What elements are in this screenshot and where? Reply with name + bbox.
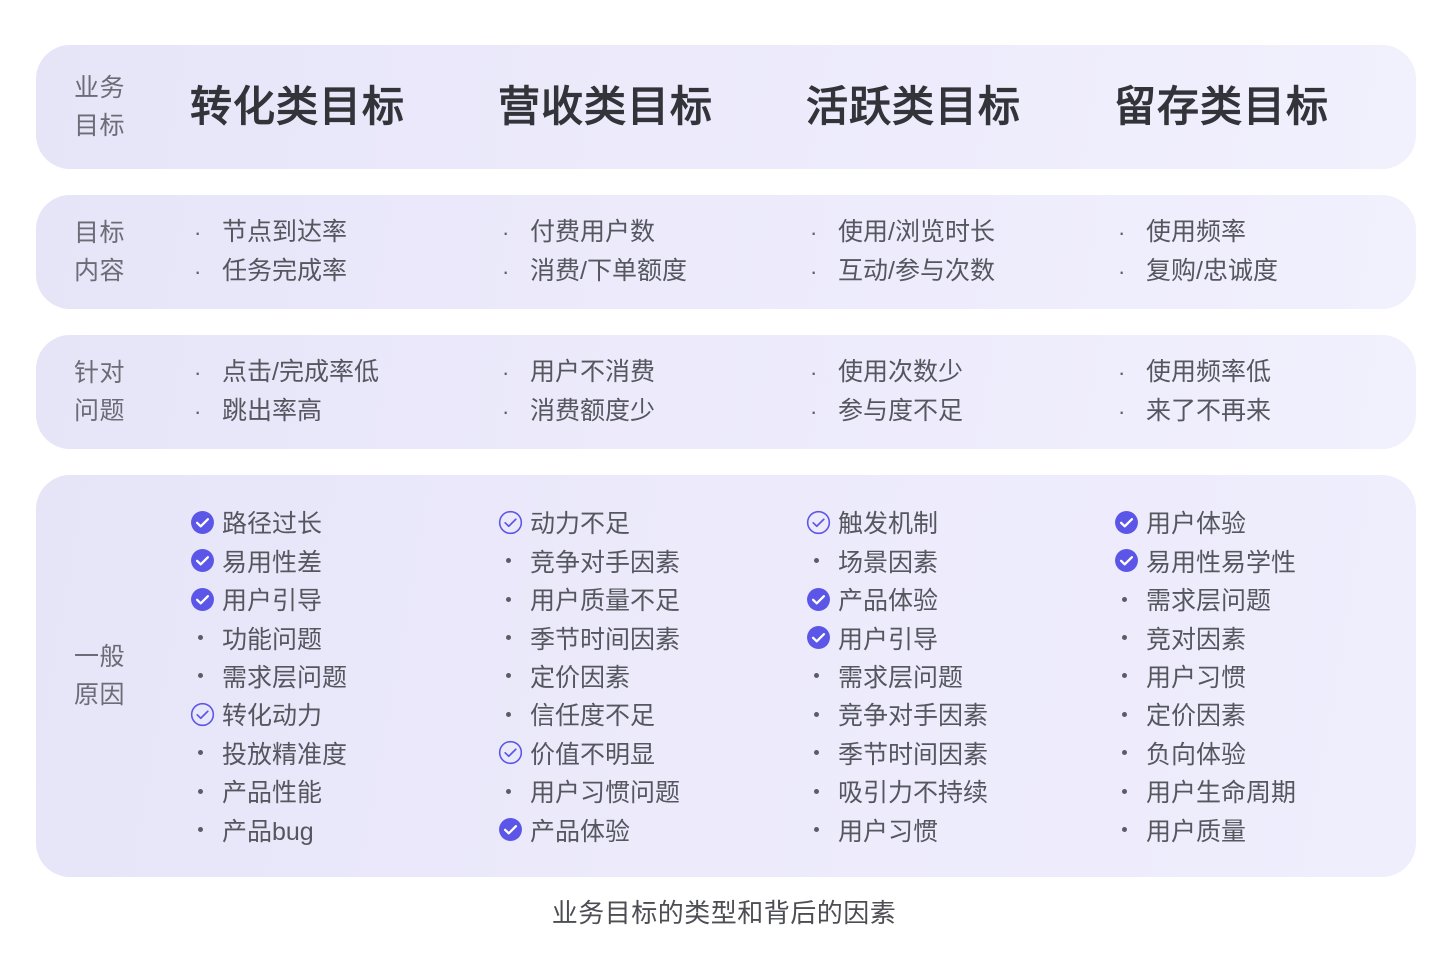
list-item: ·使用/浏览时长 <box>806 213 1108 252</box>
bullet-dot-icon: · <box>806 214 838 252</box>
cell-list: ·用户不消费 ·消费额度少 <box>492 353 800 431</box>
row-label-general-causes: 一般 原因 <box>36 475 184 877</box>
list-item: ·互动/参与次数 <box>806 252 1108 291</box>
cause-item: 用户体验 <box>1114 503 1416 541</box>
bullet-dot-icon <box>498 542 530 580</box>
cause-item: 用户习惯问题 <box>498 772 800 810</box>
list-item-label: 复购/忠诚度 <box>1146 252 1278 290</box>
list-item-label: 互动/参与次数 <box>838 252 995 290</box>
column-header-retention: 留存类目标 <box>1108 86 1416 128</box>
cause-list-retention: 用户体验易用性易学性需求层问题竞对因素用户习惯定价因素负向体验用户生命周期用户质… <box>1108 503 1416 849</box>
row-label-goal-content: 目标 内容 <box>36 195 184 309</box>
cause-item: 投放精准度 <box>190 734 492 772</box>
cause-item-label: 用户习惯问题 <box>530 773 680 809</box>
list-item-label: 跳出率高 <box>222 392 322 430</box>
cause-item: 用户质量 <box>1114 810 1416 848</box>
cause-item-label: 吸引力不持续 <box>838 773 988 809</box>
check-filled-icon <box>806 618 838 656</box>
cause-item-label: 用户质量不足 <box>530 581 680 617</box>
list-item: ·任务完成率 <box>190 252 492 291</box>
cause-item: 产品体验 <box>498 810 800 848</box>
check-outline-icon <box>806 503 838 541</box>
list-item-label: 节点到达率 <box>222 213 347 251</box>
row-band-goal-content: 目标 内容 ·节点到达率 ·任务完成率 ·付费用户数 ·消费/下单额度 ·使用/… <box>36 195 1416 309</box>
cause-item-label: 竞争对手因素 <box>838 696 988 732</box>
bullet-dot-icon <box>1114 657 1146 695</box>
bullet-dot-icon <box>498 580 530 618</box>
bullet-dot-icon: · <box>190 253 222 291</box>
list-item: ·节点到达率 <box>190 213 492 252</box>
cause-item-label: 信任度不足 <box>530 696 655 732</box>
cause-item-label: 定价因素 <box>530 658 630 694</box>
cause-item-label: 季节时间因素 <box>530 620 680 656</box>
cause-item: 用户引导 <box>806 618 1108 656</box>
bullet-dot-icon <box>806 657 838 695</box>
bullet-dot-icon: · <box>190 354 222 392</box>
list-item: ·使用次数少 <box>806 353 1108 392</box>
cell-list: ·使用/浏览时长 ·互动/参与次数 <box>800 213 1108 291</box>
cause-item: 动力不足 <box>498 503 800 541</box>
cause-item-label: 功能问题 <box>222 620 322 656</box>
bullet-dot-icon: · <box>806 393 838 431</box>
list-item: ·用户不消费 <box>498 353 800 392</box>
bullet-dot-icon: · <box>1114 214 1146 252</box>
cell-list: ·节点到达率 ·任务完成率 <box>184 213 492 291</box>
list-item-label: 参与度不足 <box>838 392 963 430</box>
check-filled-icon <box>190 542 222 580</box>
header-columns: 转化类目标 营收类目标 活跃类目标 留存类目标 <box>184 45 1416 169</box>
bullet-dot-icon <box>1114 810 1146 848</box>
cause-item: 负向体验 <box>1114 734 1416 772</box>
cause-item: 易用性差 <box>190 542 492 580</box>
bullet-dot-icon: · <box>498 214 530 252</box>
bullet-dot-icon <box>806 695 838 733</box>
bullet-dot-icon <box>806 734 838 772</box>
cause-item-label: 用户质量 <box>1146 812 1246 848</box>
cause-item-label: 产品体验 <box>530 812 630 848</box>
cause-item: 路径过长 <box>190 503 492 541</box>
check-filled-icon <box>190 580 222 618</box>
bullet-dot-icon: · <box>1114 253 1146 291</box>
header-band: 业务 目标 转化类目标 营收类目标 活跃类目标 留存类目标 <box>36 45 1416 169</box>
cause-item-label: 易用性易学性 <box>1146 543 1296 579</box>
cause-item-label: 易用性差 <box>222 543 322 579</box>
cause-item-label: 触发机制 <box>838 504 938 540</box>
row-label-line-1: 针对 <box>74 354 184 392</box>
check-filled-icon <box>190 503 222 541</box>
list-item: ·消费额度少 <box>498 392 800 431</box>
cause-item-label: 场景因素 <box>838 543 938 579</box>
cell-list: ·使用次数少 ·参与度不足 <box>800 353 1108 431</box>
bullet-dot-icon <box>806 810 838 848</box>
list-item: ·使用频率 <box>1114 213 1416 252</box>
bullet-dot-icon <box>498 657 530 695</box>
list-item: ·点击/完成率低 <box>190 353 492 392</box>
cause-item: 功能问题 <box>190 618 492 656</box>
bullet-dot-icon: · <box>498 253 530 291</box>
list-item-label: 付费用户数 <box>530 213 655 251</box>
bullet-dot-icon <box>498 772 530 810</box>
bullet-dot-icon <box>1114 580 1146 618</box>
cause-item-label: 需求层问题 <box>222 658 347 694</box>
cause-item: 用户质量不足 <box>498 580 800 618</box>
header-row-label-line-1: 业务 <box>74 69 184 107</box>
row-label-line-2: 原因 <box>74 676 184 714</box>
bullet-dot-icon <box>190 618 222 656</box>
cause-item: 用户生命周期 <box>1114 772 1416 810</box>
list-item: ·消费/下单额度 <box>498 252 800 291</box>
cause-item: 需求层问题 <box>190 657 492 695</box>
cause-item: 竞争对手因素 <box>498 542 800 580</box>
cause-item-label: 竞争对手因素 <box>530 543 680 579</box>
cause-item-label: 投放精准度 <box>222 735 347 771</box>
row-label-line-1: 一般 <box>74 638 184 676</box>
list-item-label: 使用/浏览时长 <box>838 213 995 251</box>
list-item-label: 使用次数少 <box>838 353 963 391</box>
cause-item: 价值不明显 <box>498 734 800 772</box>
cause-item-label: 需求层问题 <box>1146 581 1271 617</box>
list-item-label: 用户不消费 <box>530 353 655 391</box>
cause-list-conversion: 路径过长易用性差用户引导功能问题需求层问题转化动力投放精准度产品性能产品bug <box>184 503 492 849</box>
cause-item: 触发机制 <box>806 503 1108 541</box>
figure-caption: 业务目标的类型和背后的因素 <box>0 893 1448 930</box>
bullet-dot-icon <box>806 542 838 580</box>
check-filled-icon <box>498 810 530 848</box>
cause-item-label: 需求层问题 <box>838 658 963 694</box>
bullet-dot-icon <box>1114 695 1146 733</box>
cause-item: 产品体验 <box>806 580 1108 618</box>
list-item: ·跳出率高 <box>190 392 492 431</box>
cause-list-revenue: 动力不足竞争对手因素用户质量不足季节时间因素定价因素信任度不足价值不明显用户习惯… <box>492 503 800 849</box>
row-band-general-causes: 一般 原因 路径过长易用性差用户引导功能问题需求层问题转化动力投放精准度产品性能… <box>36 475 1416 877</box>
list-item: ·使用频率低 <box>1114 353 1416 392</box>
cause-item-label: 产品体验 <box>838 581 938 617</box>
list-item-label: 点击/完成率低 <box>222 353 379 391</box>
cause-item-label: 转化动力 <box>222 696 322 732</box>
cause-item: 信任度不足 <box>498 695 800 733</box>
column-header-conversion: 转化类目标 <box>184 86 492 128</box>
cause-item: 季节时间因素 <box>806 734 1108 772</box>
cause-item: 用户习惯 <box>1114 657 1416 695</box>
bullet-dot-icon <box>190 772 222 810</box>
bullet-dot-icon <box>498 695 530 733</box>
cell-list: ·使用频率 ·复购/忠诚度 <box>1108 213 1416 291</box>
cause-item: 产品性能 <box>190 772 492 810</box>
list-item: ·复购/忠诚度 <box>1114 252 1416 291</box>
cause-item: 季节时间因素 <box>498 618 800 656</box>
bullet-dot-icon <box>1114 734 1146 772</box>
list-item-label: 使用频率低 <box>1146 353 1271 391</box>
bullet-dot-icon <box>498 618 530 656</box>
cause-item-label: 用户引导 <box>222 581 322 617</box>
cause-item-label: 用户体验 <box>1146 504 1246 540</box>
cell-list: ·付费用户数 ·消费/下单额度 <box>492 213 800 291</box>
list-item-label: 来了不再来 <box>1146 392 1271 430</box>
bullet-dot-icon <box>190 810 222 848</box>
header-row-label: 业务 目标 <box>36 45 184 169</box>
check-filled-icon <box>1114 503 1146 541</box>
list-item-label: 使用频率 <box>1146 213 1246 251</box>
bullet-dot-icon: · <box>498 393 530 431</box>
cause-list-activity: 触发机制场景因素产品体验用户引导需求层问题竞争对手因素季节时间因素吸引力不持续用… <box>800 503 1108 849</box>
cause-item: 竞争对手因素 <box>806 695 1108 733</box>
check-outline-icon <box>498 734 530 772</box>
column-header-revenue: 营收类目标 <box>492 86 800 128</box>
bullet-dot-icon <box>190 657 222 695</box>
cause-item-label: 用户习惯 <box>838 812 938 848</box>
row-label-target-problem: 针对 问题 <box>36 335 184 449</box>
list-item-label: 消费额度少 <box>530 392 655 430</box>
cause-item-label: 竞对因素 <box>1146 620 1246 656</box>
cell-list: ·点击/完成率低 ·跳出率高 <box>184 353 492 431</box>
cause-item: 吸引力不持续 <box>806 772 1108 810</box>
bullet-dot-icon: · <box>1114 393 1146 431</box>
cause-item: 需求层问题 <box>1114 580 1416 618</box>
cause-item-label: 路径过长 <box>222 504 322 540</box>
cause-item-label: 产品性能 <box>222 773 322 809</box>
row-columns-goal-content: ·节点到达率 ·任务完成率 ·付费用户数 ·消费/下单额度 ·使用/浏览时长 ·… <box>184 195 1416 309</box>
cause-item: 用户引导 <box>190 580 492 618</box>
cause-item-label: 产品bug <box>222 812 314 848</box>
cause-item-label: 定价因素 <box>1146 696 1246 732</box>
cause-item: 转化动力 <box>190 695 492 733</box>
row-columns-target-problem: ·点击/完成率低 ·跳出率高 ·用户不消费 ·消费额度少 ·使用次数少 ·参与度… <box>184 335 1416 449</box>
cause-item-label: 价值不明显 <box>530 735 655 771</box>
cause-item: 用户习惯 <box>806 810 1108 848</box>
bullet-dot-icon: · <box>806 253 838 291</box>
cause-item: 定价因素 <box>1114 695 1416 733</box>
cause-item-label: 季节时间因素 <box>838 735 988 771</box>
row-columns-general-causes: 路径过长易用性差用户引导功能问题需求层问题转化动力投放精准度产品性能产品bug … <box>184 475 1416 877</box>
bullet-dot-icon: · <box>1114 354 1146 392</box>
cause-item-label: 用户习惯 <box>1146 658 1246 694</box>
bullet-dot-icon: · <box>190 393 222 431</box>
list-item: ·付费用户数 <box>498 213 800 252</box>
row-band-target-problem: 针对 问题 ·点击/完成率低 ·跳出率高 ·用户不消费 ·消费额度少 ·使用次数… <box>36 335 1416 449</box>
cause-item: 需求层问题 <box>806 657 1108 695</box>
cause-item-label: 动力不足 <box>530 504 630 540</box>
cause-item: 竞对因素 <box>1114 618 1416 656</box>
bullet-dot-icon <box>806 772 838 810</box>
check-filled-icon <box>1114 542 1146 580</box>
check-filled-icon <box>806 580 838 618</box>
row-label-line-1: 目标 <box>74 214 184 252</box>
row-label-line-2: 内容 <box>74 252 184 290</box>
header-row-label-line-2: 目标 <box>74 107 184 145</box>
bullet-dot-icon: · <box>806 354 838 392</box>
list-item-label: 任务完成率 <box>222 252 347 290</box>
cause-item: 产品bug <box>190 810 492 848</box>
cause-item-label: 负向体验 <box>1146 735 1246 771</box>
list-item-label: 消费/下单额度 <box>530 252 687 290</box>
cell-list: ·使用频率低 ·来了不再来 <box>1108 353 1416 431</box>
cause-item-label: 用户生命周期 <box>1146 773 1296 809</box>
check-outline-icon <box>498 503 530 541</box>
cause-item-label: 用户引导 <box>838 620 938 656</box>
cause-item: 易用性易学性 <box>1114 542 1416 580</box>
row-label-line-2: 问题 <box>74 392 184 430</box>
bullet-dot-icon: · <box>498 354 530 392</box>
infographic-page: 业务 目标 转化类目标 营收类目标 活跃类目标 留存类目标 目标 内容 ·节点到… <box>0 0 1448 966</box>
bullet-dot-icon <box>1114 772 1146 810</box>
column-header-activity: 活跃类目标 <box>800 86 1108 128</box>
cause-item: 场景因素 <box>806 542 1108 580</box>
list-item: ·来了不再来 <box>1114 392 1416 431</box>
bullet-dot-icon: · <box>190 214 222 252</box>
cause-item: 定价因素 <box>498 657 800 695</box>
list-item: ·参与度不足 <box>806 392 1108 431</box>
bullet-dot-icon <box>190 734 222 772</box>
bullet-dot-icon <box>1114 618 1146 656</box>
check-outline-icon <box>190 695 222 733</box>
